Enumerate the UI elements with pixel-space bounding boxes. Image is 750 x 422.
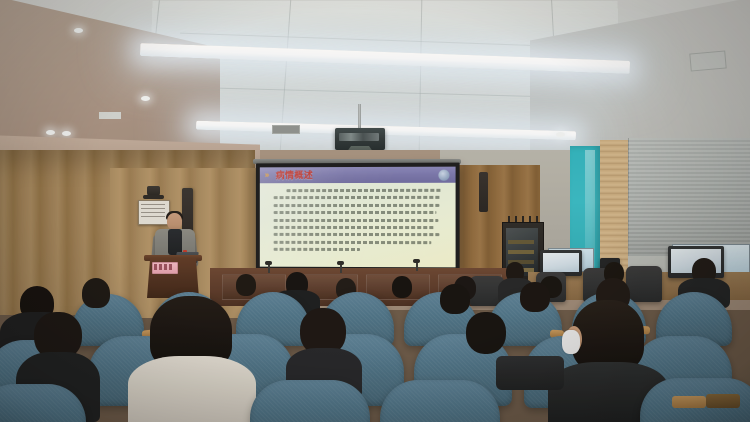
seat-armrest: [706, 394, 740, 408]
audience-head: [520, 282, 550, 312]
rack-device: [508, 240, 534, 244]
audience-shoulder: [496, 356, 564, 390]
ceiling-tile-seam: [99, 112, 121, 119]
projection-screen: » 病情概述: [260, 167, 456, 268]
projector-lens-panel: [339, 133, 379, 141]
audience-head: [392, 276, 412, 298]
ceiling-air-vent: [689, 50, 726, 71]
ceiling-air-vent: [272, 125, 300, 134]
slide-body-text: [274, 189, 442, 256]
wall-camera-bracket: [143, 195, 164, 199]
wood-slat-column: [600, 140, 628, 275]
podium-name-sign-text: [154, 264, 174, 270]
table-microphone-stand: [340, 264, 342, 273]
table-microphone: [337, 261, 344, 265]
downlight: [62, 131, 71, 136]
downlight: [556, 132, 565, 137]
slide-arrow-icon: »: [265, 171, 268, 179]
audience-head: [466, 312, 506, 354]
audience-head: [236, 274, 256, 296]
auditorium-seat[interactable]: [250, 380, 370, 422]
downlight: [74, 28, 83, 33]
rack-device: [508, 250, 534, 254]
wall-speaker-right: [479, 172, 488, 212]
downlight: [46, 130, 55, 135]
face-mask: [562, 330, 580, 354]
table-microphone: [265, 261, 272, 265]
lecture-hall-photo: » 病情概述: [0, 0, 750, 422]
office-chair[interactable]: [626, 266, 662, 302]
seat-armrest: [672, 396, 706, 408]
audience-body-foreground-left: [128, 356, 256, 422]
wall-notice-text: [141, 204, 165, 220]
table-microphone-stand: [416, 262, 418, 271]
presenter-head: [167, 213, 182, 230]
blind-texture: [628, 138, 750, 256]
slide-title: 病情概述: [276, 170, 314, 180]
slide-header-bar: » 病情概述: [260, 167, 456, 184]
auditorium-seat[interactable]: [380, 380, 500, 422]
audience-head: [440, 284, 470, 314]
downlight: [141, 96, 150, 101]
table-microphone-stand: [268, 264, 270, 273]
audience-head: [82, 278, 110, 308]
projector-mount-pole: [358, 104, 361, 130]
institution-logo-icon: [438, 170, 449, 181]
table-microphone: [413, 259, 420, 263]
monitor-screen: [543, 253, 579, 272]
